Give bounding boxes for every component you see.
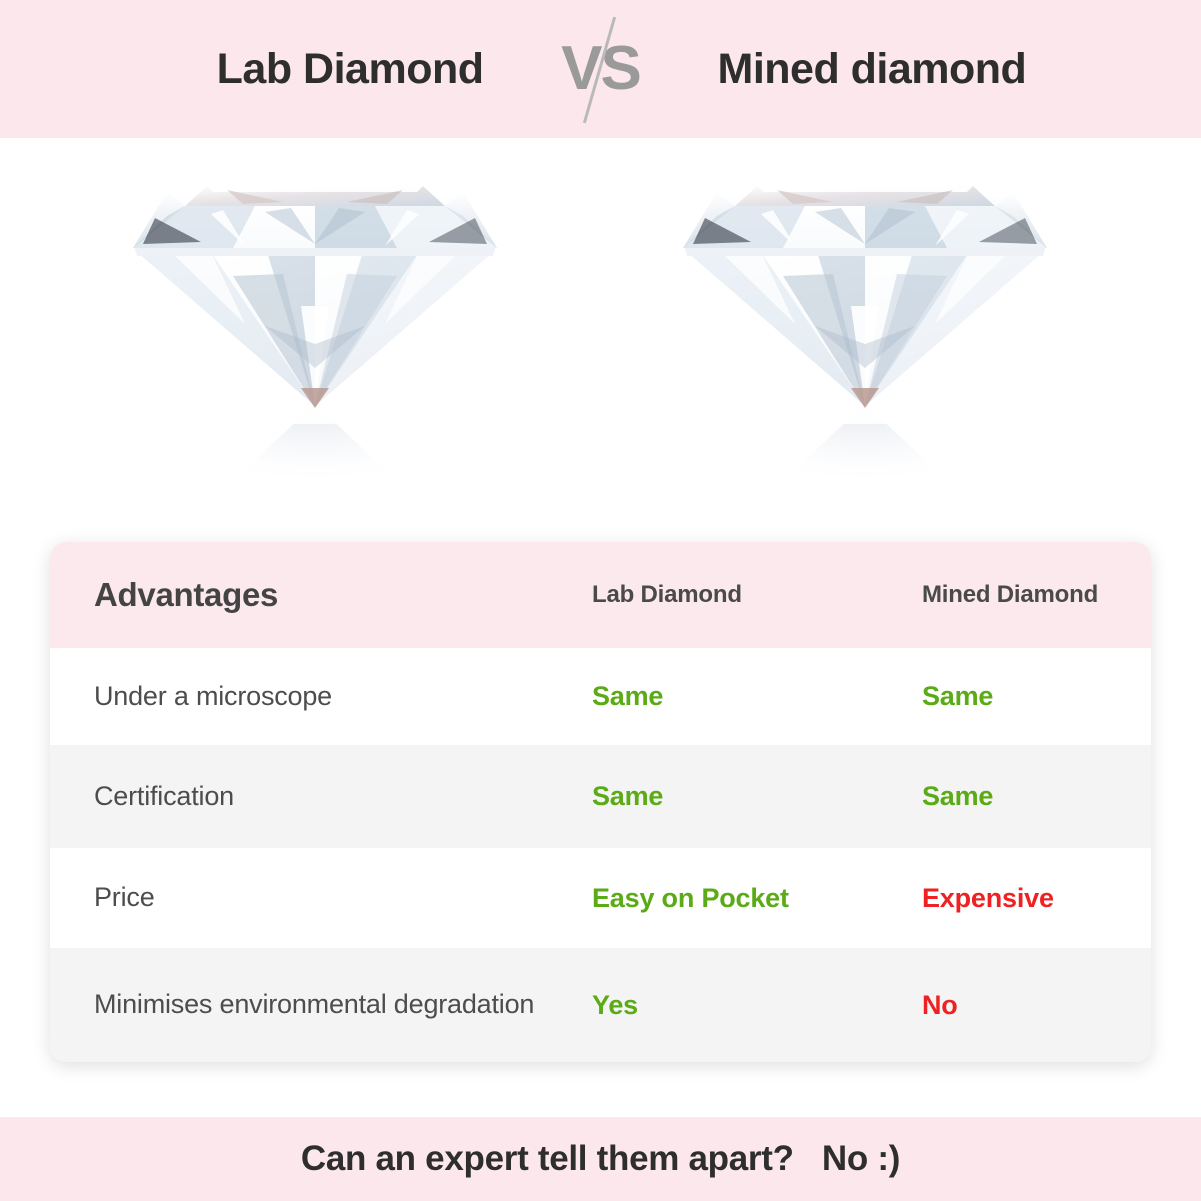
diamond-illustration xyxy=(115,156,515,536)
feature-label: Minimises environmental degradation xyxy=(94,989,534,1019)
table-row: Price Easy on Pocket Expensive xyxy=(50,848,1151,948)
cell-feature: Certification xyxy=(50,778,542,815)
lab-value: Same xyxy=(592,681,663,711)
cell-mined-value: Same xyxy=(872,681,1151,712)
page-title-mined-diamond: Mined diamond xyxy=(656,45,1126,94)
mined-value: Same xyxy=(922,681,993,711)
header-label-lab-diamond: Lab Diamond xyxy=(592,581,742,608)
cell-mined-value: Expensive xyxy=(872,883,1151,914)
mined-value: No xyxy=(922,990,958,1020)
page-title-lab-diamond: Lab Diamond xyxy=(76,45,546,94)
feature-label: Certification xyxy=(94,781,234,811)
header-band: Lab Diamond VS Mined diamond xyxy=(0,0,1201,138)
lab-value: Same xyxy=(592,781,663,811)
header-cell-lab-diamond: Lab Diamond xyxy=(542,581,872,609)
cell-mined-value: Same xyxy=(872,781,1151,812)
lab-diamond-image xyxy=(115,156,515,536)
comparison-table: Advantages Lab Diamond Mined Diamond Und… xyxy=(50,542,1151,1062)
lab-value: Yes xyxy=(592,990,638,1020)
footer-question-text: Can an expert tell them apart? No :) xyxy=(301,1139,900,1179)
cell-feature: Price xyxy=(50,879,542,916)
lab-value: Easy on Pocket xyxy=(592,883,789,913)
table-header-row: Advantages Lab Diamond Mined Diamond xyxy=(50,542,1151,648)
header-cell-mined-diamond: Mined Diamond xyxy=(872,581,1151,609)
cell-mined-value: No xyxy=(872,990,1151,1021)
table-row: Certification Same Same xyxy=(50,745,1151,848)
diamond-illustration xyxy=(665,156,1065,536)
cell-lab-value: Yes xyxy=(542,990,872,1021)
cell-feature: Minimises environmental degradation xyxy=(50,986,542,1023)
feature-label: Price xyxy=(94,882,155,912)
comparison-table-card: Advantages Lab Diamond Mined Diamond Und… xyxy=(50,542,1151,1062)
table-row: Under a microscope Same Same xyxy=(50,648,1151,745)
diamond-images-area xyxy=(0,138,1201,542)
mined-value: Expensive xyxy=(922,883,1054,913)
header-inner: Lab Diamond VS Mined diamond xyxy=(0,9,1201,129)
cell-lab-value: Same xyxy=(542,781,872,812)
vs-badge: VS xyxy=(546,9,656,129)
header-label-mined-diamond: Mined Diamond xyxy=(922,581,1098,608)
table-row: Minimises environmental degradation Yes … xyxy=(50,948,1151,1062)
mined-diamond-image xyxy=(665,156,1065,536)
cell-feature: Under a microscope xyxy=(50,678,542,715)
header-cell-advantages: Advantages xyxy=(50,576,542,614)
header-label-advantages: Advantages xyxy=(94,576,278,613)
comparison-infographic: Lab Diamond VS Mined diamond xyxy=(0,0,1201,1201)
footer-band: Can an expert tell them apart? No :) xyxy=(0,1117,1201,1201)
feature-label: Under a microscope xyxy=(94,681,332,711)
mined-value: Same xyxy=(922,781,993,811)
cell-lab-value: Same xyxy=(542,681,872,712)
cell-lab-value: Easy on Pocket xyxy=(542,883,872,914)
